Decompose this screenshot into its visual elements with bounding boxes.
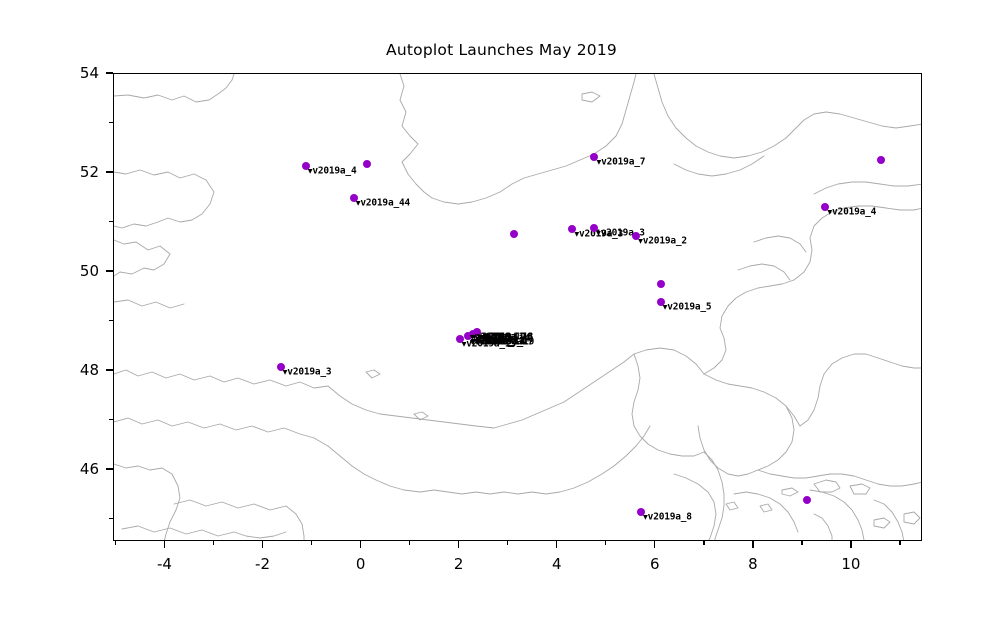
data-point-marker[interactable] bbox=[363, 160, 371, 168]
y-axis-minor-tick bbox=[109, 221, 113, 222]
x-axis-tick bbox=[850, 541, 851, 548]
x-axis-tick-label: 2 bbox=[454, 555, 464, 573]
x-axis-minor-tick bbox=[703, 541, 704, 545]
data-point-label: ▼v2019a_4 bbox=[827, 207, 876, 218]
data-point-marker[interactable] bbox=[803, 496, 811, 504]
y-axis-tick bbox=[106, 468, 113, 469]
x-axis-tick-label: 6 bbox=[650, 555, 660, 573]
data-point-label: ▼v2019a_2 bbox=[638, 235, 687, 246]
data-point-label-overlap: ▼v2019a_17 bbox=[479, 337, 533, 348]
data-point-label: ▼v2019a_3 bbox=[283, 366, 332, 377]
data-point-label: ▼v2019a_5 bbox=[663, 301, 712, 312]
x-axis-tick-label: 10 bbox=[841, 555, 860, 573]
x-axis-minor-tick bbox=[605, 541, 606, 545]
x-axis-tick-label: -4 bbox=[157, 555, 172, 573]
x-axis-minor-tick bbox=[311, 541, 312, 545]
y-axis-tick bbox=[106, 369, 113, 370]
x-axis-tick-label: 4 bbox=[552, 555, 562, 573]
x-axis-tick-label: -2 bbox=[255, 555, 270, 573]
page-title: Autoplot Launches May 2019 bbox=[0, 41, 1003, 59]
data-point-label: ▼v2019a_4 bbox=[308, 165, 357, 176]
x-axis-minor-tick bbox=[801, 541, 802, 545]
x-axis-tick-label: 0 bbox=[356, 555, 366, 573]
y-axis-tick-label: 46 bbox=[0, 460, 99, 478]
y-axis-minor-tick bbox=[109, 122, 113, 123]
x-axis-tick bbox=[262, 541, 263, 548]
plot-area bbox=[113, 73, 922, 541]
data-point-label: ▼v2019a_7 bbox=[596, 157, 645, 168]
y-axis-tick-label: 50 bbox=[0, 262, 99, 280]
x-axis-minor-tick bbox=[507, 541, 508, 545]
x-axis-tick bbox=[458, 541, 459, 548]
x-axis-tick bbox=[556, 541, 557, 548]
x-axis-minor-tick bbox=[115, 541, 116, 545]
x-axis-tick-label: 8 bbox=[748, 555, 758, 573]
data-point-marker[interactable] bbox=[510, 230, 518, 238]
y-axis-tick-label: 48 bbox=[0, 361, 99, 379]
data-point-label: ▼v2019a_44 bbox=[356, 197, 410, 208]
y-axis-tick bbox=[106, 72, 113, 73]
data-point-marker[interactable] bbox=[877, 156, 885, 164]
map-coastlines bbox=[114, 74, 922, 541]
data-point-marker[interactable] bbox=[657, 280, 665, 288]
x-axis-tick bbox=[752, 541, 753, 548]
y-axis-minor-tick bbox=[109, 518, 113, 519]
y-axis-minor-tick bbox=[109, 320, 113, 321]
y-axis-tick bbox=[106, 270, 113, 271]
y-axis-tick-label: 54 bbox=[0, 64, 99, 82]
x-axis-minor-tick bbox=[213, 541, 214, 545]
y-axis-tick bbox=[106, 171, 113, 172]
x-axis-tick bbox=[360, 541, 361, 548]
x-axis-minor-tick bbox=[899, 541, 900, 545]
x-axis-tick bbox=[164, 541, 165, 548]
data-point-label: ▼v2019a_8 bbox=[643, 511, 692, 522]
y-axis-tick-label: 52 bbox=[0, 163, 99, 181]
x-axis-minor-tick bbox=[409, 541, 410, 545]
x-axis-tick bbox=[654, 541, 655, 548]
y-axis-minor-tick bbox=[109, 419, 113, 420]
figure-canvas: Autoplot Launches May 2019 bbox=[0, 0, 1003, 633]
